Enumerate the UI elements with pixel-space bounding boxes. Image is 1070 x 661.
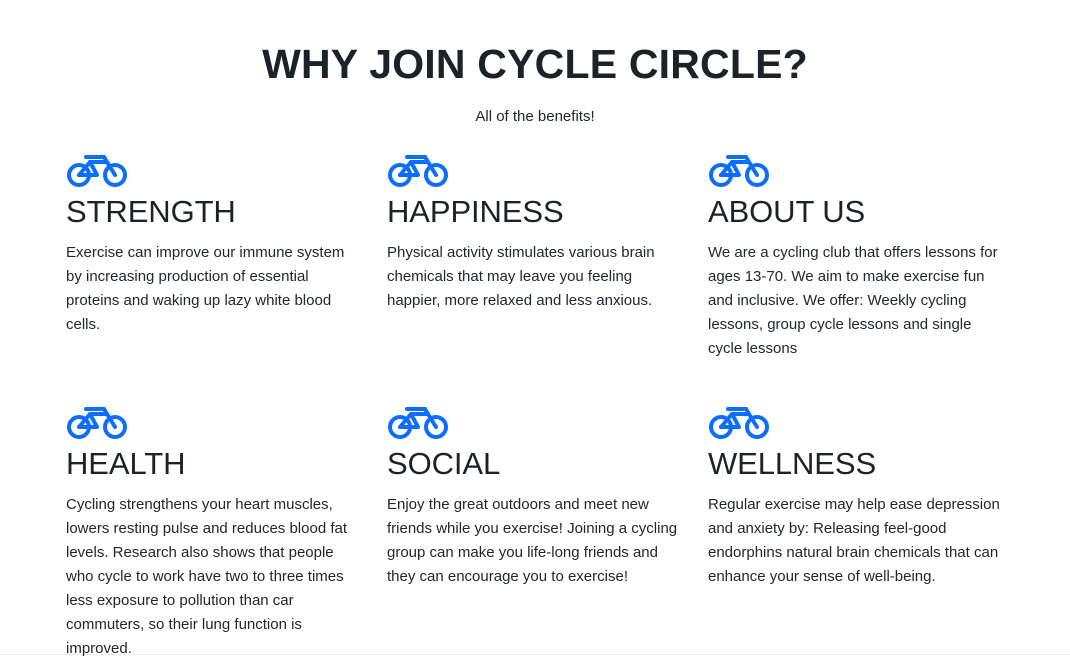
benefit-heading: ABOUT US bbox=[708, 194, 1001, 230]
benefit-card-strength: STRENGTH Exercise can improve our immune… bbox=[66, 153, 359, 361]
page-title: WHY JOIN CYCLE CIRCLE? bbox=[0, 40, 1070, 88]
page-subtitle: All of the benefits! bbox=[0, 88, 1070, 127]
bicycle-icon bbox=[387, 153, 449, 187]
benefit-card-social: SOCIAL Enjoy the great outdoors and meet… bbox=[387, 405, 680, 661]
benefit-body: Cycling strengthens your heart muscles, … bbox=[66, 482, 359, 661]
benefit-heading: WELLNESS bbox=[708, 446, 1001, 482]
benefit-heading: STRENGTH bbox=[66, 194, 359, 230]
benefit-body: We are a cycling club that offers lesson… bbox=[708, 230, 1001, 361]
benefit-heading: SOCIAL bbox=[387, 446, 680, 482]
benefit-card-wellness: WELLNESS Regular exercise may help ease … bbox=[708, 405, 1001, 661]
benefit-card-health: HEALTH Cycling strengthens your heart mu… bbox=[66, 405, 359, 661]
bicycle-icon bbox=[66, 405, 128, 439]
benefit-body: Physical activity stimulates various bra… bbox=[387, 230, 680, 313]
page-header: WHY JOIN CYCLE CIRCLE? All of the benefi… bbox=[0, 0, 1070, 127]
benefit-heading: HEALTH bbox=[66, 446, 359, 482]
benefit-card-happiness: HAPPINESS Physical activity stimulates v… bbox=[387, 153, 680, 361]
benefit-body: Regular exercise may help ease depressio… bbox=[708, 482, 1001, 589]
bicycle-icon bbox=[708, 405, 770, 439]
bicycle-icon bbox=[387, 405, 449, 439]
bicycle-icon bbox=[66, 153, 128, 187]
benefit-body: Enjoy the great outdoors and meet new fr… bbox=[387, 482, 680, 589]
benefits-grid: STRENGTH Exercise can improve our immune… bbox=[0, 127, 1070, 661]
benefit-heading: HAPPINESS bbox=[387, 194, 680, 230]
bicycle-icon bbox=[708, 153, 770, 187]
benefit-body: Exercise can improve our immune system b… bbox=[66, 230, 359, 337]
benefit-card-about-us: ABOUT US We are a cycling club that offe… bbox=[708, 153, 1001, 361]
benefits-page: WHY JOIN CYCLE CIRCLE? All of the benefi… bbox=[0, 0, 1070, 655]
